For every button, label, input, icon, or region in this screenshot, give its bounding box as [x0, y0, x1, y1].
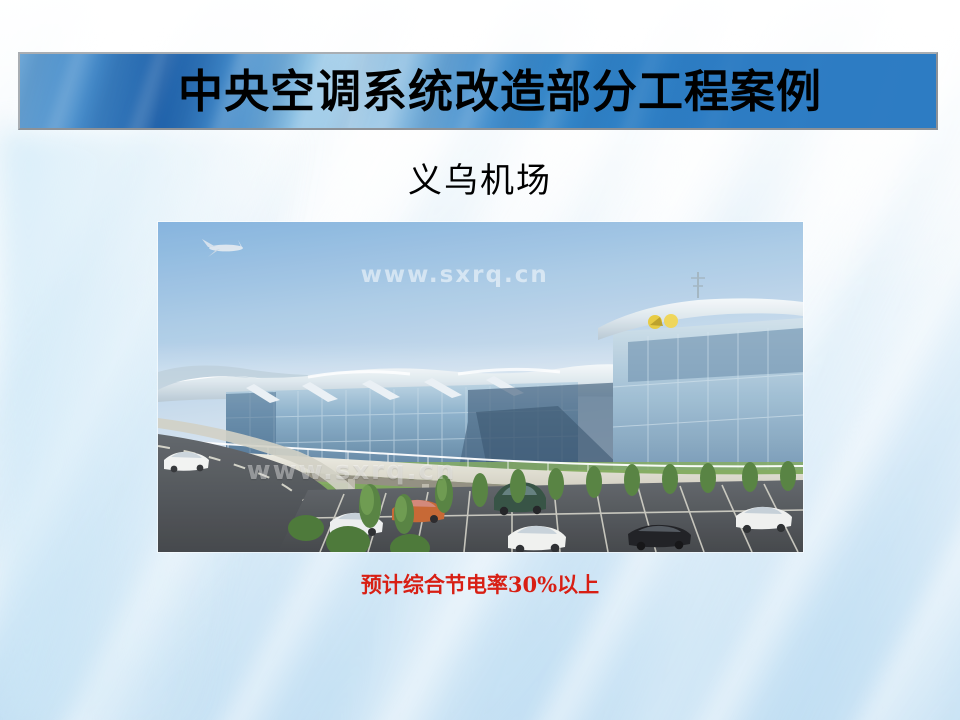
airport-illustration — [158, 222, 803, 552]
slide-canvas: 中央空调系统改造部分工程案例 义乌机场 — [0, 0, 960, 720]
slide-subtitle: 义乌机场 — [0, 163, 960, 200]
page-title: 中央空调系统改造部分工程案例 — [178, 69, 822, 114]
title-banner: 中央空调系统改造部分工程案例 — [18, 52, 938, 130]
energy-saving-caption: 预计综合节电率30%以上 — [0, 572, 960, 597]
airport-photo: www.sxrq.cn www.sxrq.cn — [158, 222, 803, 552]
